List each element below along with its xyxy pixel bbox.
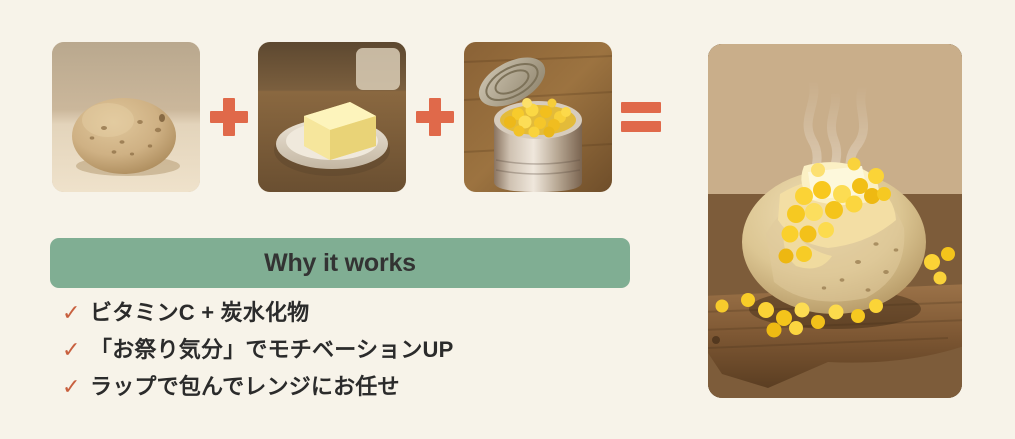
- benefits-list: ✓ ビタミンC + 炭水化物 ✓ 「お祭り気分」でモチベーションUP ✓ ラップ…: [62, 302, 662, 413]
- plus-icon: [416, 98, 454, 136]
- plus-icon: [210, 98, 248, 136]
- check-icon: ✓: [62, 302, 90, 324]
- equals-operator: [612, 42, 670, 192]
- benefit-item-3: ✓ ラップで包んでレンジにお任せ: [62, 376, 662, 413]
- benefit-item-2: ✓ 「お祭り気分」でモチベーションUP: [62, 339, 662, 376]
- benefit-label: 「お祭り気分」でモチベーションUP: [90, 339, 454, 361]
- check-icon: ✓: [62, 339, 90, 361]
- plus-operator-2: [406, 42, 464, 192]
- potato-photo: [52, 42, 200, 192]
- plus-operator-1: [200, 42, 258, 192]
- butter-photo: [258, 42, 406, 192]
- recipe-infographic-page: Why it works ✓ ビタミンC + 炭水化物 ✓ 「お祭り気分」でモチ…: [0, 0, 1015, 439]
- benefit-label: ビタミンC + 炭水化物: [90, 302, 309, 324]
- check-icon: ✓: [62, 376, 90, 398]
- why-it-works-banner: Why it works: [50, 238, 630, 288]
- benefit-item-1: ✓ ビタミンC + 炭水化物: [62, 302, 662, 339]
- equals-icon: [621, 102, 661, 132]
- ingredient-equation-row: [52, 42, 692, 192]
- why-it-works-title: Why it works: [264, 249, 416, 278]
- steaming-baked-potato-photo: [708, 44, 962, 398]
- benefit-label: ラップで包んでレンジにお任せ: [90, 376, 400, 398]
- corn-can-photo: [464, 42, 612, 192]
